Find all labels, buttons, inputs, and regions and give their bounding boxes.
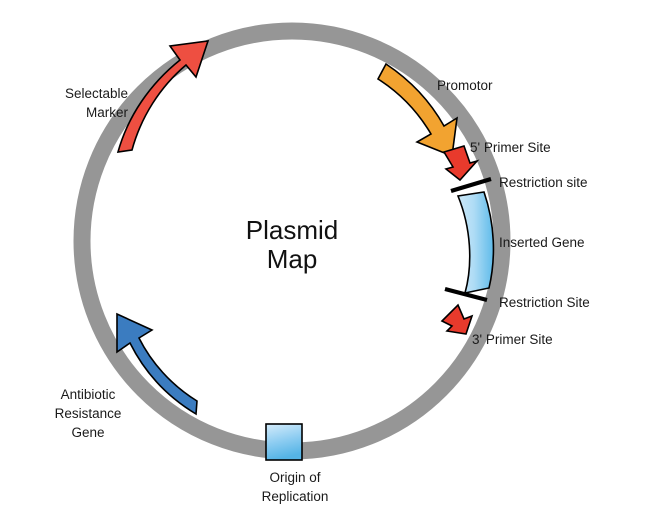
origin-label-line1: Origin of (269, 470, 320, 485)
origin-of-replication-box (266, 424, 302, 460)
origin-of-replication-shape (266, 424, 302, 460)
selectable-marker-label-line1: Selectable (65, 86, 128, 101)
primer-3-arrow (442, 305, 472, 334)
label-restriction-site-lower: Restriction Site (499, 295, 590, 310)
inserted-gene-block (458, 192, 493, 293)
antibiotic-label-line1: Antibiotic (61, 387, 116, 402)
label-promotor: Promotor (437, 78, 493, 93)
primer-3-shape (442, 305, 472, 334)
inserted-gene-shape (458, 192, 493, 293)
page-title: Plasmid Map (246, 215, 338, 274)
label-restriction-site-upper: Restriction site (499, 175, 588, 190)
plasmid-diagram: Plasmid Map Selectable Marker Promotor 5… (0, 0, 650, 519)
label-origin-of-replication: Origin of Replication (262, 470, 329, 504)
antibiotic-label-line3: Gene (71, 425, 104, 440)
label-primer-5: 5' Primer Site (470, 140, 551, 155)
label-inserted-gene: Inserted Gene (499, 235, 585, 250)
selectable-marker-label-line2: Marker (86, 105, 129, 120)
plasmid-title-line1: Plasmid (246, 215, 338, 245)
restriction-site-upper-bar (451, 179, 491, 191)
plasmid-map-figure: Plasmid Map Selectable Marker Promotor 5… (0, 0, 650, 519)
label-primer-3: 3' Primer Site (472, 332, 553, 347)
label-antibiotic-resistance-gene: Antibiotic Resistance Gene (55, 387, 122, 440)
antibiotic-label-line2: Resistance (55, 406, 122, 421)
plasmid-title-line2: Map (267, 244, 318, 274)
label-selectable-marker: Selectable Marker (65, 86, 129, 120)
origin-label-line2: Replication (262, 489, 329, 504)
